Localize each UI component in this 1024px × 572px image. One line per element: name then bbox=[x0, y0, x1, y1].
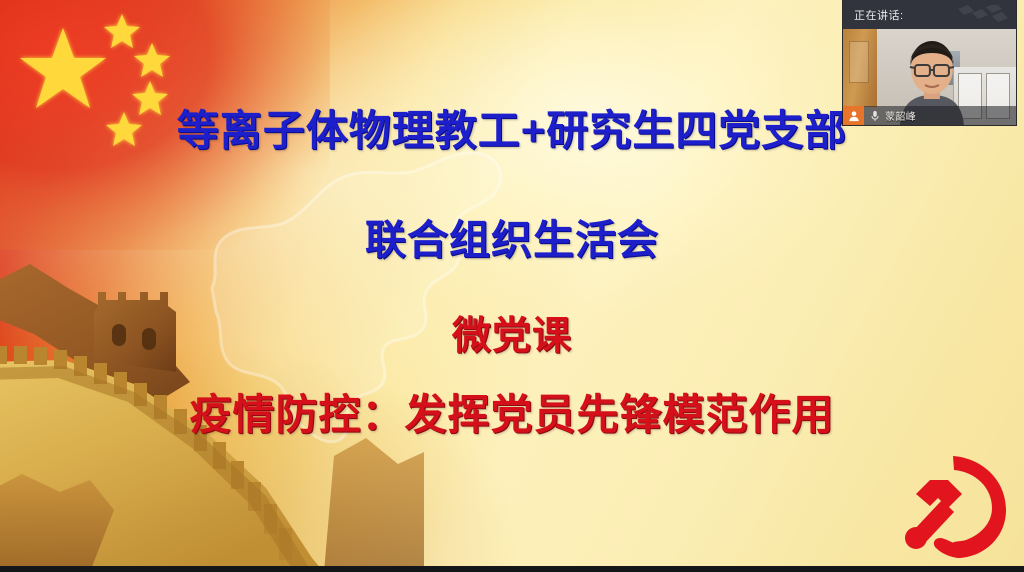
video-door bbox=[843, 29, 877, 107]
speaker-name-label: 蒙韶峰 bbox=[885, 108, 916, 123]
speaker-video-footer: 蒙韶峰 bbox=[843, 106, 1016, 125]
speaking-now-label: 正在讲话: bbox=[854, 7, 904, 23]
meeting-screen-share-view: 等离子体物理教工+研究生四党支部 联合组织生活会 微党课 疫情防控：发挥党员先锋… bbox=[0, 0, 1024, 572]
microphone-icon[interactable] bbox=[866, 110, 884, 122]
video-door-panel bbox=[849, 41, 869, 83]
speaker-video-feed[interactable]: 蒙韶峰 bbox=[843, 29, 1016, 125]
speaker-video-panel[interactable]: 正在讲话: bbox=[843, 0, 1016, 125]
person-avatar-icon bbox=[843, 106, 864, 125]
speaker-video-header: 正在讲话: bbox=[843, 0, 1016, 29]
header-decoration-icon bbox=[952, 5, 1010, 25]
